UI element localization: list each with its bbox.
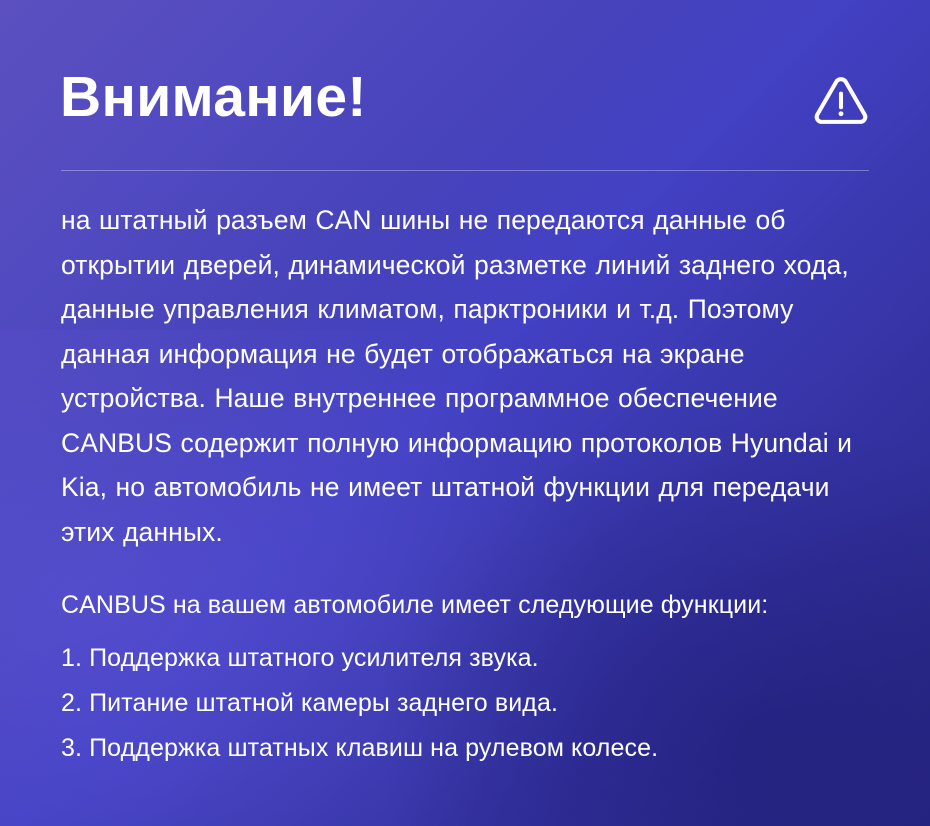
banner-header: Внимание!	[60, 52, 875, 142]
functions-list: 1. Поддержка штатного усилителя звука. 2…	[61, 636, 891, 771]
body-paragraph: на штатный разъем CAN шины не передаются…	[61, 198, 881, 554]
list-item: 2. Питание штатной камеры заднего вида.	[61, 681, 891, 726]
list-item: 1. Поддержка штатного усилителя звука.	[61, 636, 891, 681]
warning-triangle-icon	[810, 69, 872, 131]
functions-lead-text: CANBUS на вашем автомобиле имеет следующ…	[61, 587, 891, 623]
functions-section: CANBUS на вашем автомобиле имеет следующ…	[61, 587, 891, 771]
warning-banner: Внимание! на штатный разъем CAN шины не …	[0, 0, 930, 826]
page-title: Внимание!	[60, 64, 367, 130]
list-item: 3. Поддержка штатных клавиш на рулевом к…	[61, 726, 891, 771]
header-divider	[61, 170, 869, 171]
